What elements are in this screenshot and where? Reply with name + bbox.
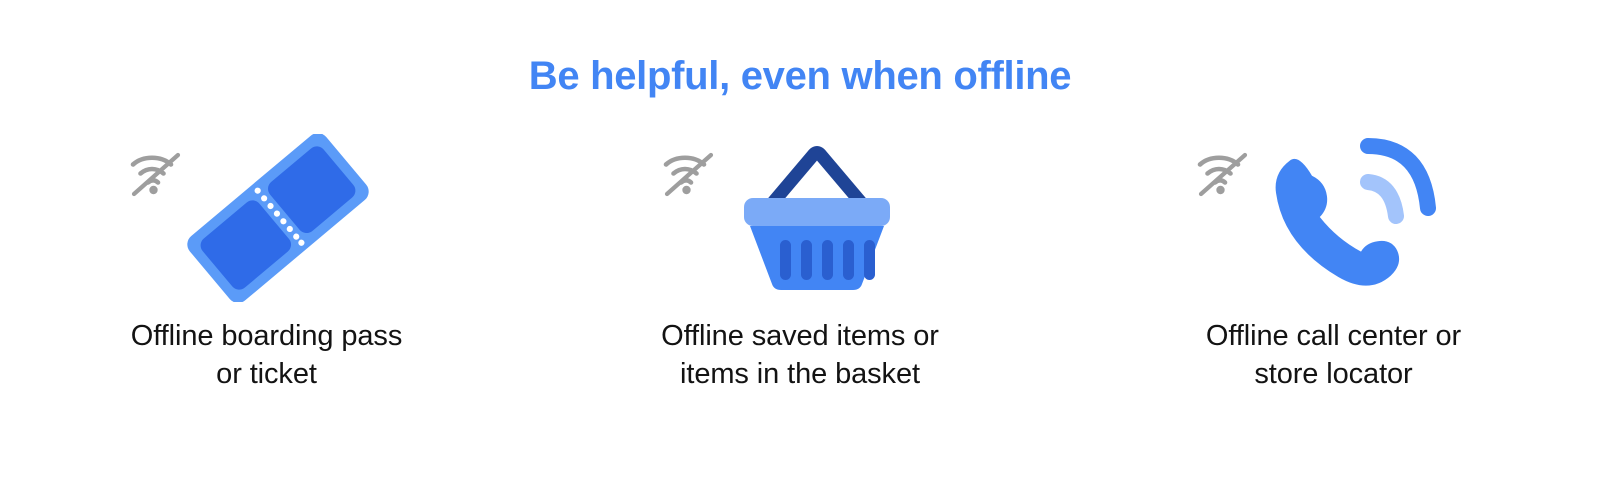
basket-handle xyxy=(770,153,864,207)
phone-handset xyxy=(1271,146,1402,296)
basket-body xyxy=(750,226,884,290)
wifi-dot xyxy=(149,186,157,194)
icon-stage-phone xyxy=(1184,130,1484,305)
feature-item-boarding-pass: Offline boarding pass or ticket xyxy=(0,130,533,394)
shopping-basket-icon xyxy=(722,134,912,302)
wifi-dot xyxy=(1216,186,1224,194)
feature-caption: Offline call center or store locator xyxy=(1206,317,1461,394)
feature-columns: Offline boarding pass or ticket xyxy=(0,130,1600,394)
feature-item-call-center: Offline call center or store locator xyxy=(1067,130,1600,394)
boarding-pass-ticket-icon xyxy=(183,134,373,302)
wifi-off-icon xyxy=(125,146,187,200)
ticket-body xyxy=(183,134,373,302)
wifi-off-icon xyxy=(1192,146,1254,200)
wifi-dot xyxy=(682,186,690,194)
page-title: Be helpful, even when offline xyxy=(0,52,1600,100)
wifi-off-icon xyxy=(658,146,720,200)
feature-caption: Offline boarding pass or ticket xyxy=(131,317,402,394)
icon-stage-basket xyxy=(650,130,950,305)
basket-rim xyxy=(744,198,890,226)
phone-call-icon xyxy=(1256,130,1456,302)
offline-features-panel: Be helpful, even when offline xyxy=(0,0,1600,485)
feature-item-saved-items: Offline saved items or items in the bask… xyxy=(534,130,1067,394)
phone-signal-arc-inner xyxy=(1368,182,1396,216)
icon-stage-boarding-pass xyxy=(117,130,417,305)
feature-caption: Offline saved items or items in the bask… xyxy=(661,317,939,394)
